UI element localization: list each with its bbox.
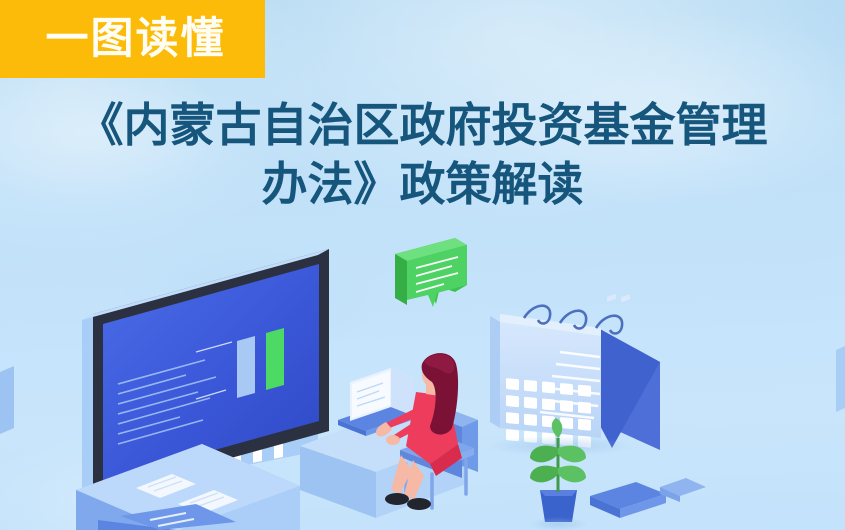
page-title: 《内蒙古自治区政府投资基金管理 办法》政策解读: [0, 96, 845, 214]
hero-illustration: [0, 232, 845, 530]
ribbon-banner: 一图读懂: [0, 0, 265, 78]
ribbon-label: 一图读懂: [46, 18, 226, 61]
chat-bubble: [395, 238, 467, 307]
side-panel-sliver: [0, 366, 14, 434]
infographic-poster: 一图读懂 《内蒙古自治区政府投资基金管理 办法》政策解读: [0, 0, 845, 530]
right-panel-sliver: [836, 346, 845, 412]
desk-calendar: [484, 306, 660, 456]
page-title-line-2: 办法》政策解读: [0, 155, 845, 214]
page-title-line-1: 《内蒙古自治区政府投资基金管理: [0, 96, 845, 155]
